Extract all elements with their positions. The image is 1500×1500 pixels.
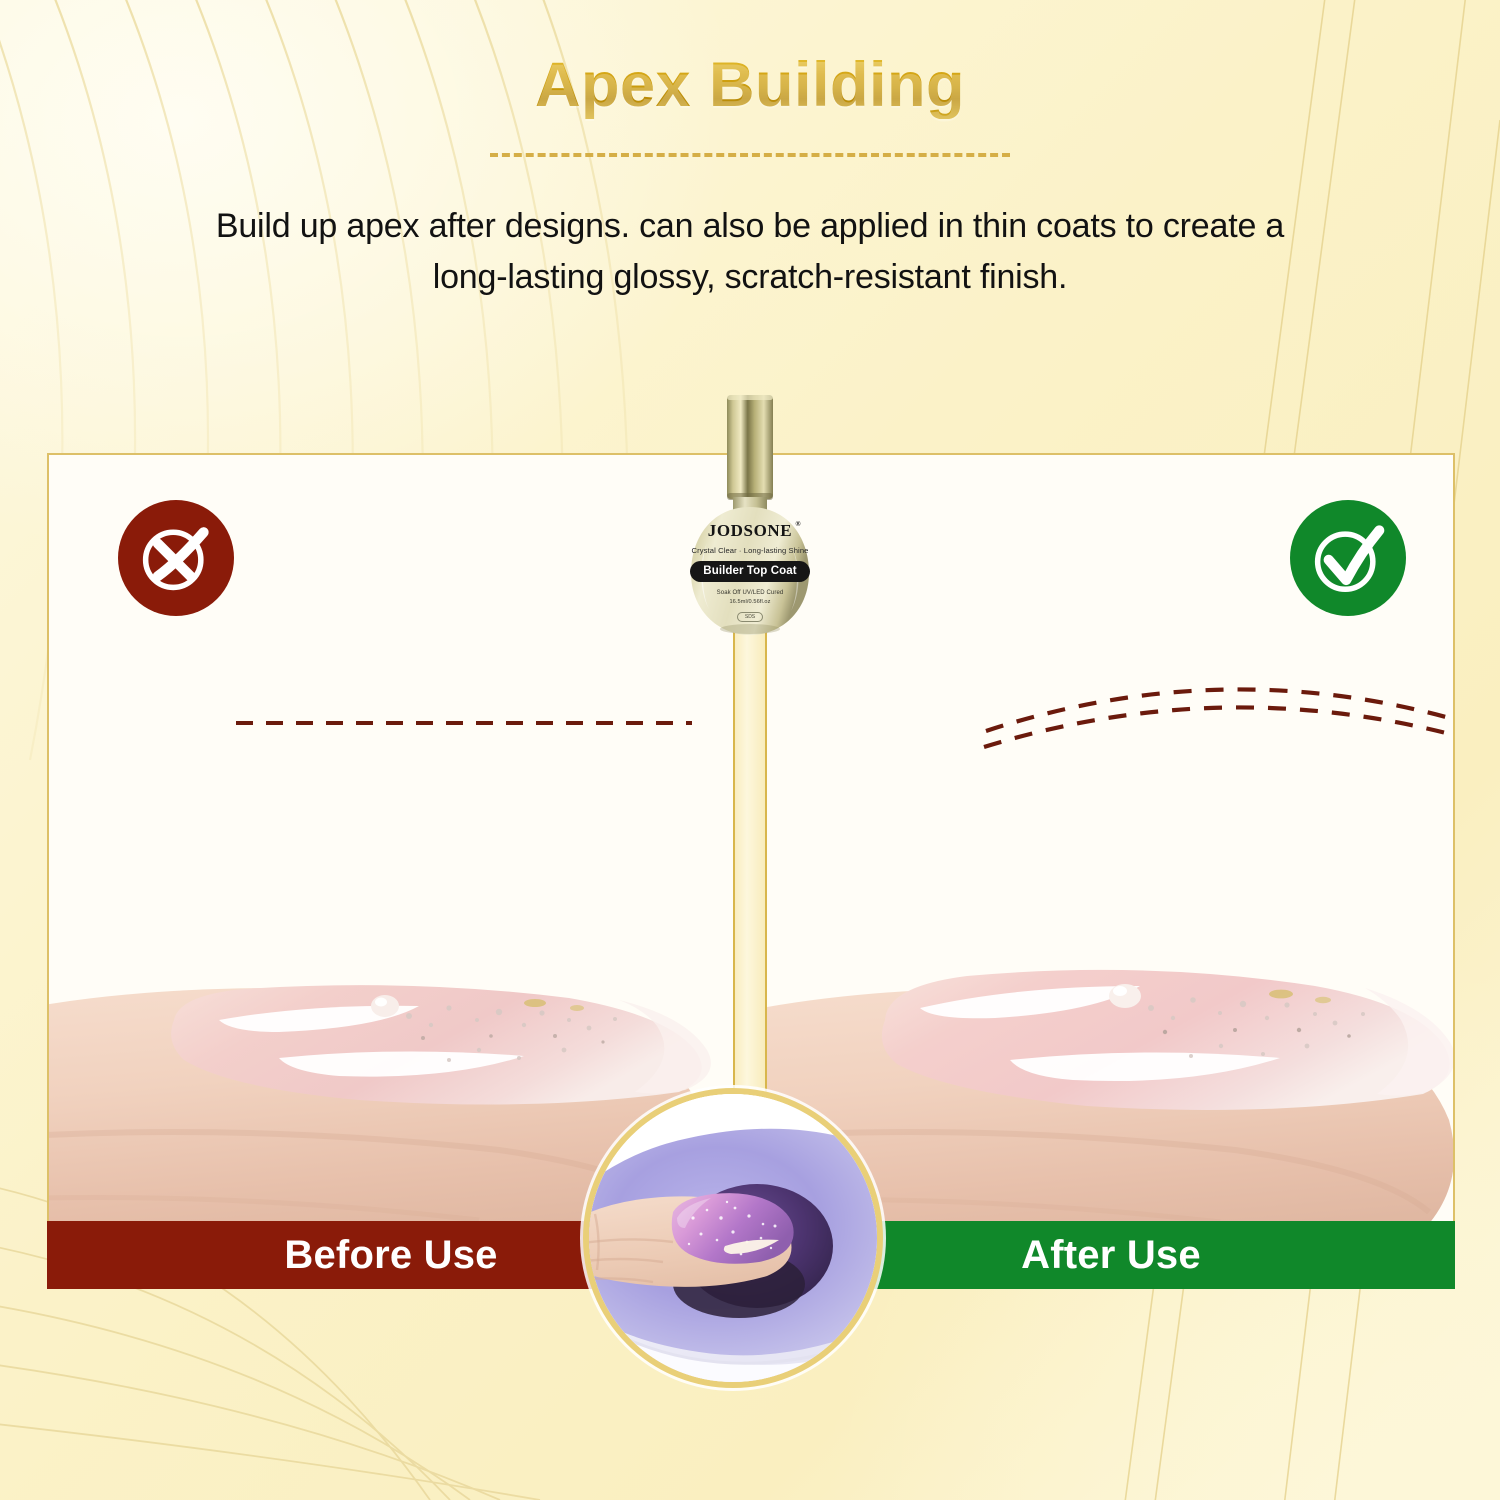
cross-circle-icon (118, 500, 234, 616)
title-divider (490, 153, 1010, 157)
apex-guide-dashed-arcs (980, 655, 1453, 755)
after-use-label: After Use (1021, 1233, 1201, 1278)
header: Apex Building Build up apex after design… (0, 52, 1500, 304)
check-circle-icon (1290, 500, 1406, 616)
uv-lamp-inset (583, 1088, 883, 1388)
page-title: Apex Building (0, 52, 1500, 119)
subtitle-text: Build up apex after designs. can also be… (195, 201, 1305, 304)
before-use-label: Before Use (284, 1233, 497, 1278)
flat-guide-dashed-line (234, 717, 694, 729)
product-bottle: JODSONE® Crystal Clear · Long-lasting Sh… (683, 393, 817, 643)
infographic-canvas: Apex Building Build up apex after design… (0, 0, 1500, 1500)
